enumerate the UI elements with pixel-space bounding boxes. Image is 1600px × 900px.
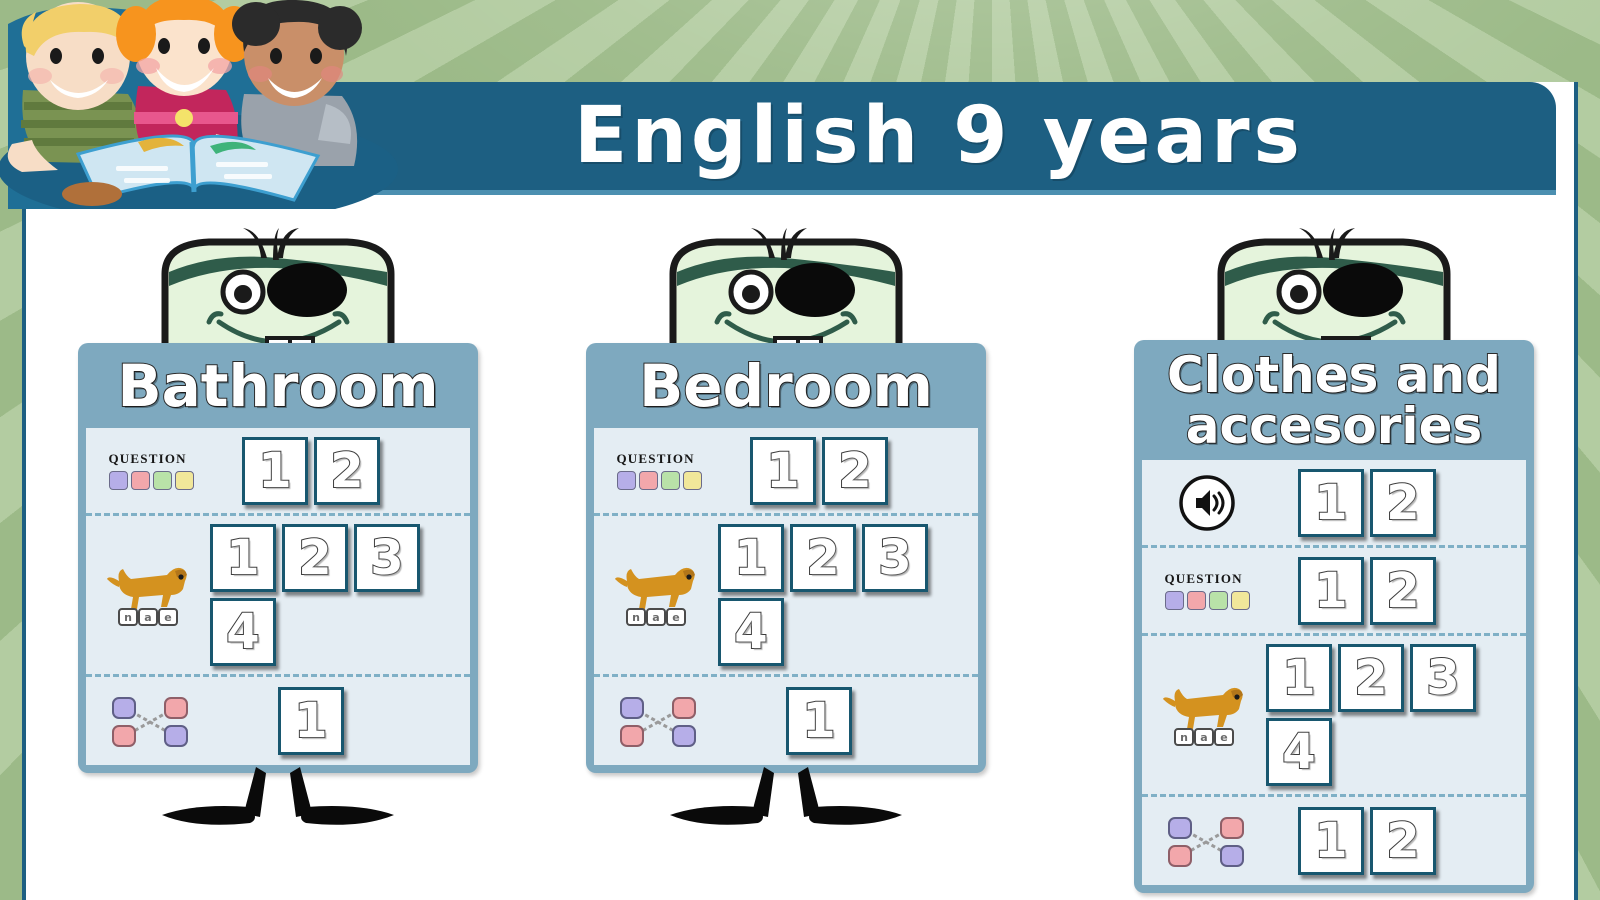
exercise-tile[interactable]: 2 bbox=[1370, 807, 1436, 875]
exercise-tile[interactable]: 1 bbox=[718, 524, 784, 592]
exercise-tile[interactable]: 2 bbox=[1370, 469, 1436, 537]
card-title: Bedroom bbox=[586, 343, 986, 428]
exercise-tile[interactable]: 1 bbox=[242, 437, 308, 505]
activity-row-question: QUESTION12 bbox=[86, 428, 470, 516]
svg-text:a: a bbox=[652, 611, 659, 624]
question-icon: QUESTION bbox=[1165, 571, 1250, 610]
activity-row-match: 1 bbox=[594, 677, 978, 765]
exercise-tile[interactable]: 2 bbox=[314, 437, 380, 505]
monster-legs-icon bbox=[138, 767, 418, 837]
exercise-tiles: 1234 bbox=[714, 524, 940, 666]
exercise-tile[interactable]: 1 bbox=[1266, 644, 1332, 712]
color-swatch-3 bbox=[1209, 591, 1228, 610]
activity-row-question: QUESTION12 bbox=[594, 428, 978, 516]
row-icon-cell bbox=[96, 692, 206, 750]
spelling-dog-icon: nae bbox=[1161, 679, 1253, 751]
svg-text:n: n bbox=[1180, 731, 1188, 744]
svg-text:a: a bbox=[144, 611, 151, 624]
card-rows: QUESTION12 nae 1234 1 bbox=[86, 428, 470, 765]
exercise-tile[interactable]: 4 bbox=[718, 598, 784, 666]
exercise-tile[interactable]: 4 bbox=[1266, 718, 1332, 786]
exercise-tile[interactable]: 1 bbox=[1298, 469, 1364, 537]
color-swatch-1 bbox=[1165, 591, 1184, 610]
svg-text:n: n bbox=[124, 611, 132, 624]
exercise-tile[interactable]: 4 bbox=[210, 598, 276, 666]
color-swatch-2 bbox=[131, 471, 150, 490]
card-rows: 12QUESTION12 nae 1234 12 bbox=[1142, 460, 1526, 885]
question-label: QUESTION bbox=[109, 451, 187, 467]
exercise-tile[interactable]: 1 bbox=[210, 524, 276, 592]
exercise-tile[interactable]: 2 bbox=[1338, 644, 1404, 712]
color-swatch-2 bbox=[1187, 591, 1206, 610]
color-swatch-4 bbox=[683, 471, 702, 490]
color-swatch-1 bbox=[109, 471, 128, 490]
exercise-tile[interactable]: 1 bbox=[1298, 557, 1364, 625]
row-icon-cell: QUESTION bbox=[96, 451, 206, 490]
activity-row-dog: nae 1234 bbox=[1142, 636, 1526, 797]
row-icon-cell: nae bbox=[96, 559, 206, 631]
matching-pairs-icon bbox=[617, 692, 701, 750]
exercise-tiles: 12 bbox=[206, 437, 460, 505]
color-swatch-1 bbox=[617, 471, 636, 490]
color-swatch-3 bbox=[153, 471, 172, 490]
exercise-tile[interactable]: 2 bbox=[1370, 557, 1436, 625]
svg-text:n: n bbox=[632, 611, 640, 624]
question-icon: QUESTION bbox=[617, 451, 702, 490]
exercise-tiles: 12 bbox=[1262, 557, 1516, 625]
page-root: English 9 years bbox=[0, 0, 1600, 900]
exercise-tile[interactable]: 3 bbox=[862, 524, 928, 592]
question-color-swatches bbox=[1165, 591, 1250, 610]
color-swatch-4 bbox=[1231, 591, 1250, 610]
exercise-tiles: 12 bbox=[1262, 469, 1516, 537]
color-swatch-2 bbox=[639, 471, 658, 490]
svg-text:a: a bbox=[1200, 731, 1207, 744]
activity-row-match: 1 bbox=[86, 677, 470, 765]
card-panel[interactable]: Bathroom QUESTION12 nae 1234 1 bbox=[78, 343, 478, 773]
exercise-tile[interactable]: 1 bbox=[278, 687, 344, 755]
svg-text:e: e bbox=[164, 611, 171, 624]
exercise-tile[interactable]: 1 bbox=[750, 437, 816, 505]
spelling-dog-icon: nae bbox=[613, 559, 705, 631]
card-panel[interactable]: Clothes and accesories 12QUESTION12 nae … bbox=[1134, 340, 1534, 893]
card-title: Bathroom bbox=[78, 343, 478, 428]
svg-text:e: e bbox=[672, 611, 679, 624]
question-label: QUESTION bbox=[1165, 571, 1243, 587]
exercise-tile[interactable]: 2 bbox=[822, 437, 888, 505]
exercise-tile[interactable]: 2 bbox=[790, 524, 856, 592]
activity-row-dog: nae 1234 bbox=[594, 516, 978, 677]
exercise-tiles: 1 bbox=[206, 687, 460, 755]
exercise-tiles: 1234 bbox=[1262, 644, 1488, 786]
card-title: Clothes and accesories bbox=[1134, 340, 1534, 460]
row-icon-cell: QUESTION bbox=[604, 451, 714, 490]
svg-text:e: e bbox=[1220, 731, 1227, 744]
row-icon-cell: nae bbox=[604, 559, 714, 631]
card-rows: QUESTION12 nae 1234 1 bbox=[594, 428, 978, 765]
exercise-tile[interactable]: 3 bbox=[1410, 644, 1476, 712]
row-icon-cell bbox=[1152, 812, 1262, 870]
page-title: English 9 years bbox=[274, 97, 1304, 175]
exercise-tiles: 1234 bbox=[206, 524, 432, 666]
exercise-tile[interactable]: 1 bbox=[1298, 807, 1364, 875]
kids-reading-illustration bbox=[0, 0, 408, 209]
exercise-tile[interactable]: 2 bbox=[282, 524, 348, 592]
question-color-swatches bbox=[617, 471, 702, 490]
row-icon-cell: QUESTION bbox=[1152, 571, 1262, 610]
exercise-tile[interactable]: 1 bbox=[786, 687, 852, 755]
row-icon-cell bbox=[1152, 474, 1262, 532]
matching-pairs-icon bbox=[1165, 812, 1249, 870]
matching-pairs-icon bbox=[109, 692, 193, 750]
exercise-tiles: 1 bbox=[714, 687, 968, 755]
exercise-tiles: 12 bbox=[1262, 807, 1516, 875]
activity-row-audio: 12 bbox=[1142, 460, 1526, 548]
exercise-tiles: 12 bbox=[714, 437, 968, 505]
question-label: QUESTION bbox=[617, 451, 695, 467]
activity-row-dog: nae 1234 bbox=[86, 516, 470, 677]
activity-row-match: 12 bbox=[1142, 797, 1526, 885]
audio-speaker-icon[interactable] bbox=[1178, 474, 1236, 532]
question-color-swatches bbox=[109, 471, 194, 490]
color-swatch-3 bbox=[661, 471, 680, 490]
row-icon-cell bbox=[604, 692, 714, 750]
monster-legs-icon bbox=[646, 767, 926, 837]
question-icon: QUESTION bbox=[109, 451, 194, 490]
color-swatch-4 bbox=[175, 471, 194, 490]
spelling-dog-icon: nae bbox=[105, 559, 197, 631]
activity-row-question: QUESTION12 bbox=[1142, 548, 1526, 636]
exercise-tile[interactable]: 3 bbox=[354, 524, 420, 592]
row-icon-cell: nae bbox=[1152, 679, 1262, 751]
card-panel[interactable]: Bedroom QUESTION12 nae 1234 1 bbox=[586, 343, 986, 773]
